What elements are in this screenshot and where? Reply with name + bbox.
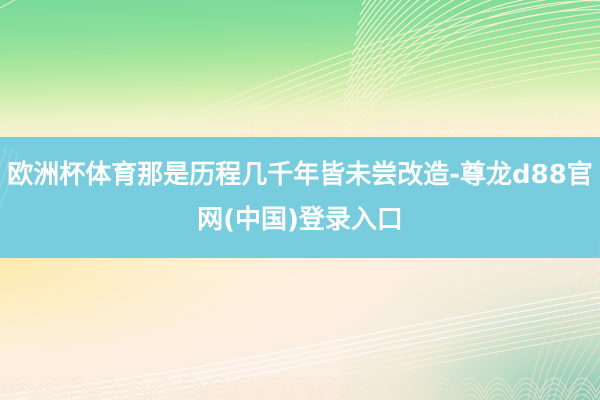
decor-curve-fan-top-left bbox=[0, 0, 270, 137]
headline-text-block: 欧洲杯体育那是历程几千年皆未尝改造-尊龙d88官 网(中国)登录入口 bbox=[0, 137, 600, 258]
decor-curve-fan-bottom-sweep bbox=[0, 278, 600, 400]
decor-ripple-fringe-bottom bbox=[0, 336, 600, 400]
decor-curve-fan-top-right bbox=[330, 0, 600, 137]
decor-curve-fan-top-left-inner bbox=[0, 0, 160, 137]
bottom-right-green-tint bbox=[340, 258, 600, 400]
headline-line-2: 网(中国)登录入口 bbox=[197, 198, 403, 243]
decor-ripple-fringe-top-right bbox=[250, 78, 600, 137]
bottom-right-green-tint-core bbox=[430, 300, 600, 400]
bottom-decorative-panel bbox=[0, 258, 600, 400]
top-decorative-panel bbox=[0, 0, 600, 137]
banner-image: 欧洲杯体育那是历程几千年皆未尝改造-尊龙d88官 网(中国)登录入口 bbox=[0, 0, 600, 400]
headline-line-1: 欧洲杯体育那是历程几千年皆未尝改造-尊龙d88官 bbox=[7, 153, 593, 198]
decor-curve-fan-top-sweep bbox=[200, 40, 600, 137]
bottom-left-warm-wash bbox=[0, 258, 260, 358]
decor-curve-fan-bottom-right bbox=[430, 258, 600, 400]
